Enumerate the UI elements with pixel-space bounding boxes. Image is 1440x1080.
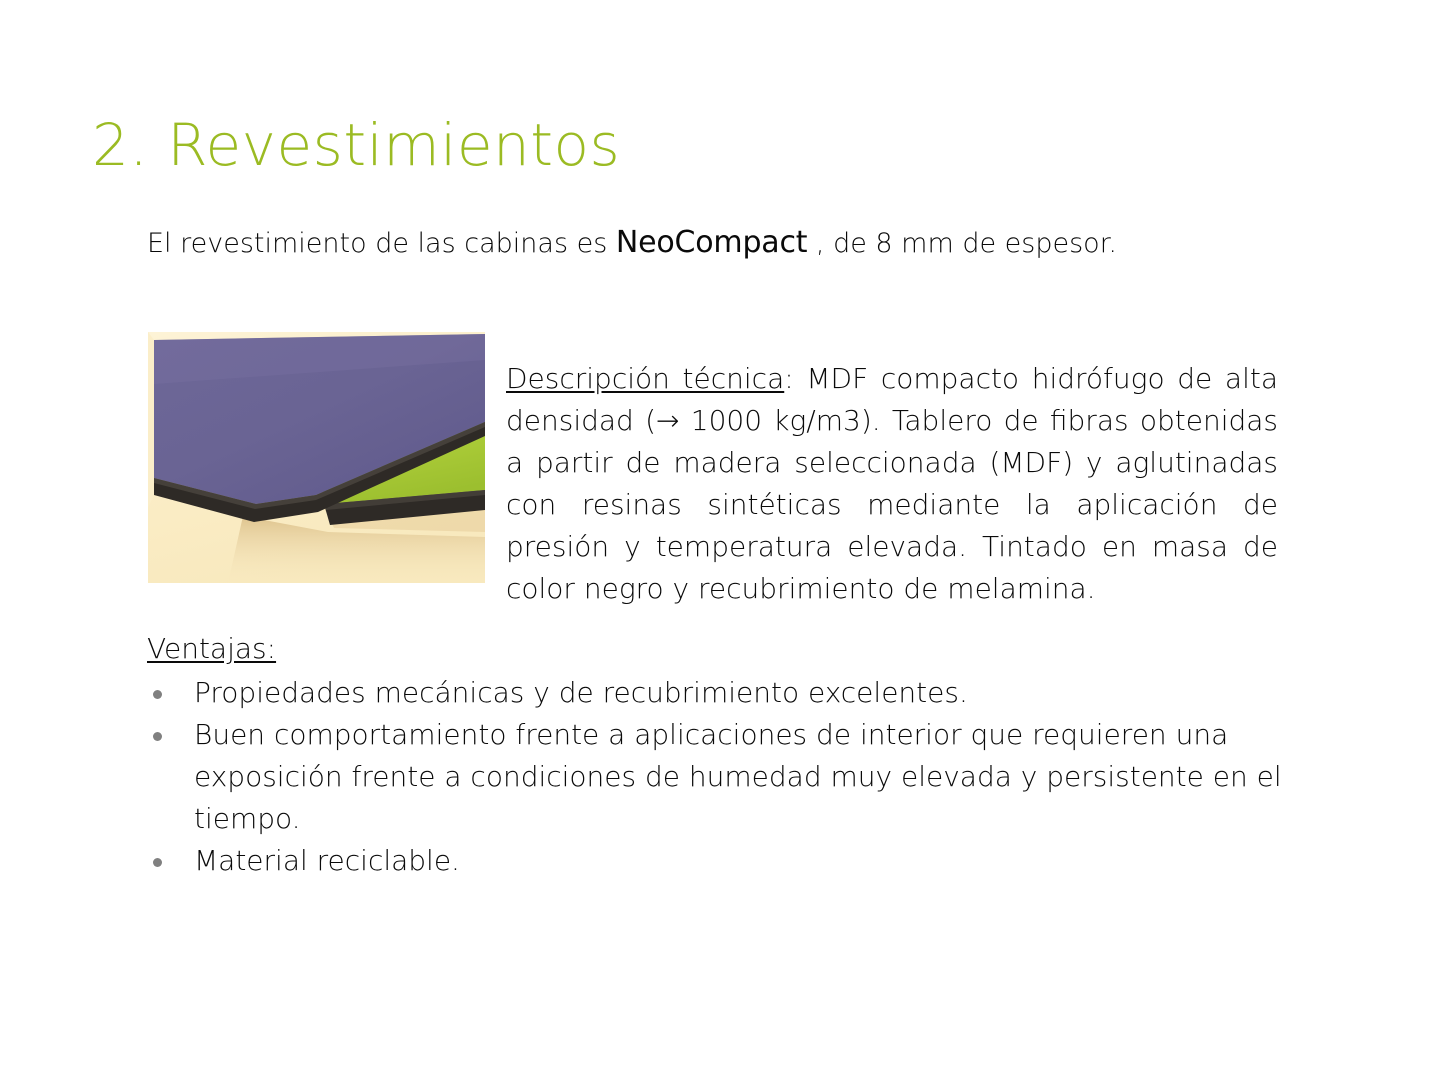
technical-description-body: MDF compacto hidrófugo de alta densidad … xyxy=(506,362,1278,605)
technical-description-separator: : xyxy=(784,362,806,395)
slide-canvas: 2. Revestimientos El revestimiento de la… xyxy=(0,0,1440,1080)
technical-description-label: Descripción técnica xyxy=(506,362,784,395)
page-title: 2. Revestimientos xyxy=(92,115,1292,176)
intro-paragraph: El revestimiento de las cabinas es NeoCo… xyxy=(147,225,1327,261)
list-item: Propiedades mecánicas y de recubrimiento… xyxy=(147,672,1282,714)
technical-description: Descripción técnica: MDF compacto hidróf… xyxy=(506,358,1278,610)
bullet-dot-icon xyxy=(153,858,162,867)
intro-text-before: El revestimiento de las cabinas es xyxy=(147,228,616,259)
list-item-label: Propiedades mecánicas y de recubrimiento… xyxy=(194,676,968,709)
list-item: Material reciclable. xyxy=(147,840,1282,882)
bullet-dot-icon xyxy=(153,690,162,699)
bullet-dot-icon xyxy=(153,732,162,741)
intro-text-after: , de 8 mm de espesor. xyxy=(807,228,1117,259)
product-name: NeoCompact xyxy=(616,225,807,260)
product-photo xyxy=(148,332,485,583)
product-photo-illustration xyxy=(148,332,485,583)
list-item: Buen comportamiento frente a aplicacione… xyxy=(147,714,1282,840)
list-item-label: Buen comportamiento frente a aplicacione… xyxy=(194,718,1282,835)
advantages-list: Propiedades mecánicas y de recubrimiento… xyxy=(147,672,1282,882)
list-item-label: Material reciclable. xyxy=(194,844,460,877)
advantages-heading: Ventajas: xyxy=(147,628,276,670)
